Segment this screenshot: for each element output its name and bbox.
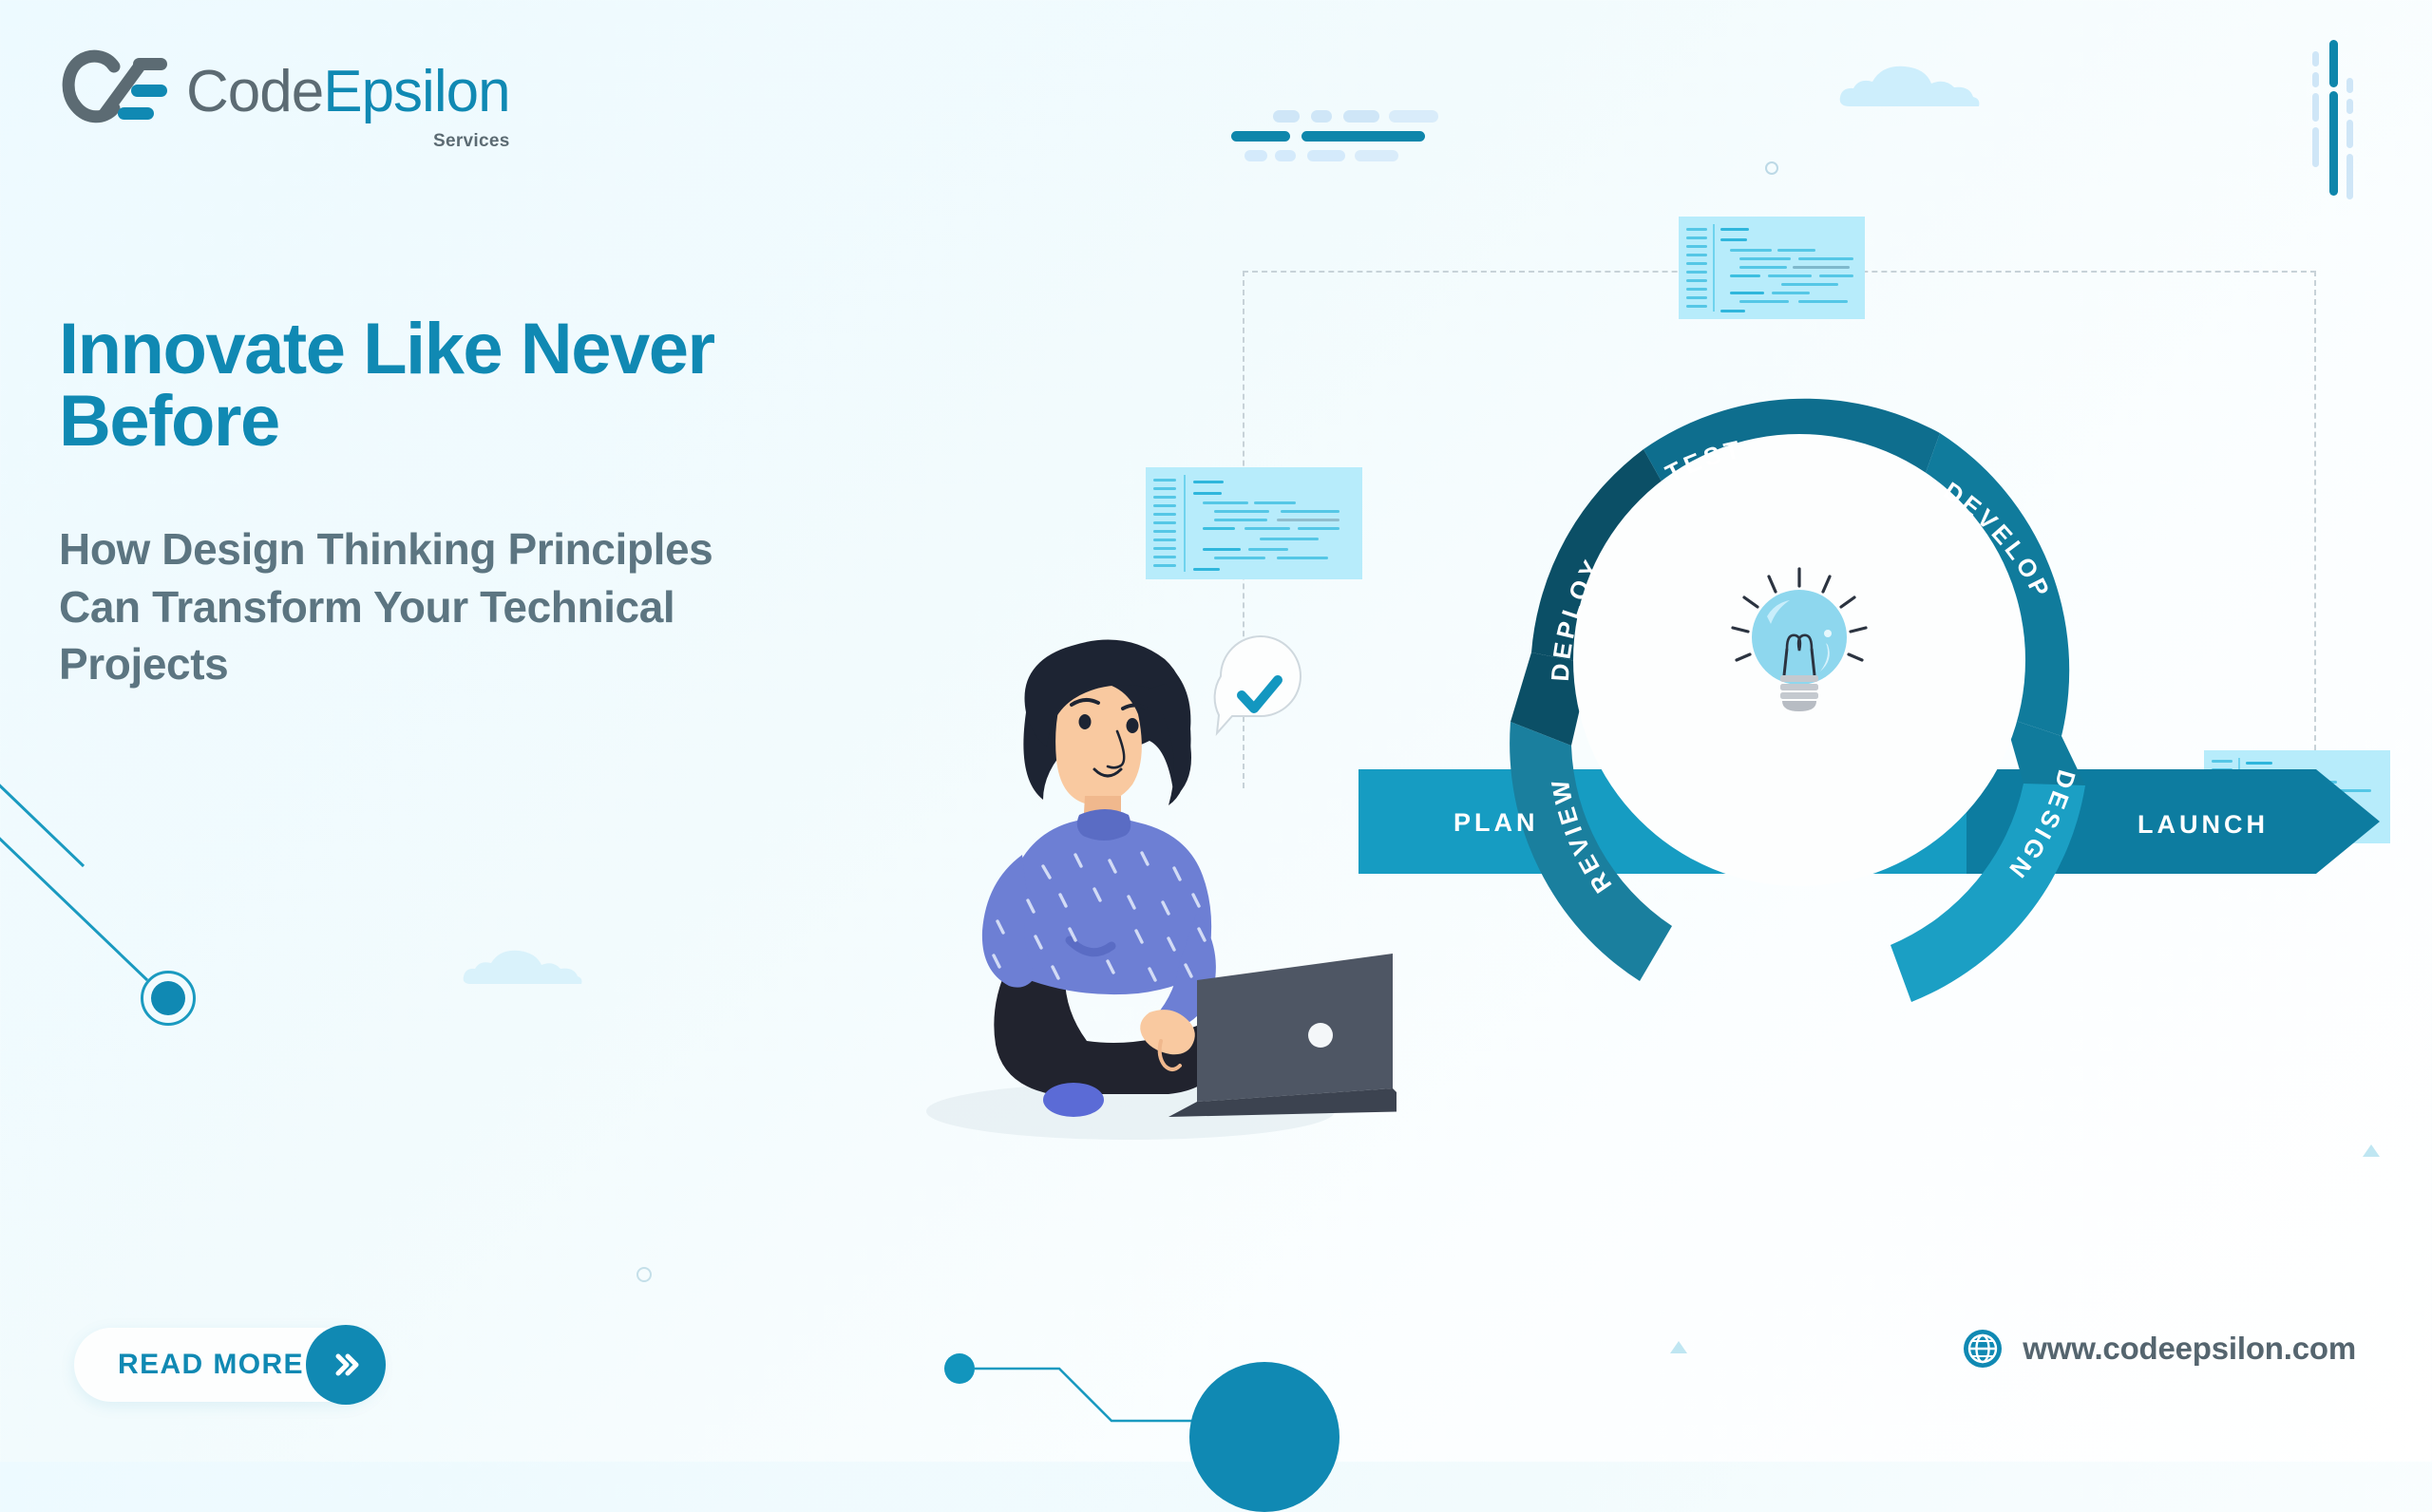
decorative-large-circle [1189, 1362, 1339, 1512]
code-snippet-card-left [1146, 467, 1362, 579]
woman-with-laptop-illustration [883, 627, 1396, 1159]
decorative-ring-small-top [1765, 161, 1778, 175]
page-subtitle: How Design Thinking Principles Can Trans… [59, 520, 914, 693]
website-link[interactable]: www.codeepsilon.com [1962, 1328, 2356, 1370]
subheading-line-1: How Design Thinking Principles [59, 520, 914, 578]
cloud-mid-left-icon [462, 944, 614, 990]
decorative-diagonal-lines [0, 741, 237, 1054]
globe-icon [1962, 1328, 2004, 1370]
decorative-dash-marks-right [2308, 36, 2394, 207]
brand-logo[interactable]: CodeEpsilon Services [59, 46, 510, 152]
segment-label-launch: LAUNCH [2137, 810, 2269, 839]
code-snippet-card-top [1679, 217, 1865, 319]
lifecycle-diagram: TEST DEVELOP DESIGN DEPLOY REVIEW PLAN L… [1358, 337, 2422, 1116]
headline-line-1: Innovate Like Never [59, 313, 914, 386]
decorative-node-dot [151, 981, 185, 1015]
banner-canvas: CodeEpsilon Services Innovate Like Never… [0, 0, 2432, 1462]
cloud-top-right-icon [1838, 59, 2019, 112]
subheading-line-3: Projects [59, 635, 914, 693]
subheading-line-2: Can Transform Your Technical [59, 578, 914, 636]
read-more-label: READ MORE [118, 1349, 304, 1381]
ce-monogram-icon [59, 46, 173, 137]
double-chevron-right-icon[interactable] [306, 1325, 386, 1405]
decorative-triangle-right [2363, 1144, 2380, 1157]
segment-label-plan: PLAN [1453, 808, 1539, 837]
decorative-triangle-center [1670, 1341, 1687, 1353]
headline-line-2: Before [59, 386, 914, 458]
decorative-ring-small-bottom [636, 1267, 652, 1282]
page-title: Innovate Like Never Before [59, 313, 914, 458]
website-url-text: www.codeepsilon.com [2023, 1331, 2356, 1367]
decorative-dash-marks-top [1216, 106, 1425, 173]
logo-text-epsilon: Epsilon [323, 59, 509, 124]
read-more-button[interactable]: READ MORE [74, 1328, 380, 1402]
logo-text-code: Code [186, 59, 323, 124]
check-mark-icon [1215, 636, 1301, 733]
logo-subtitle: Services [186, 131, 510, 152]
